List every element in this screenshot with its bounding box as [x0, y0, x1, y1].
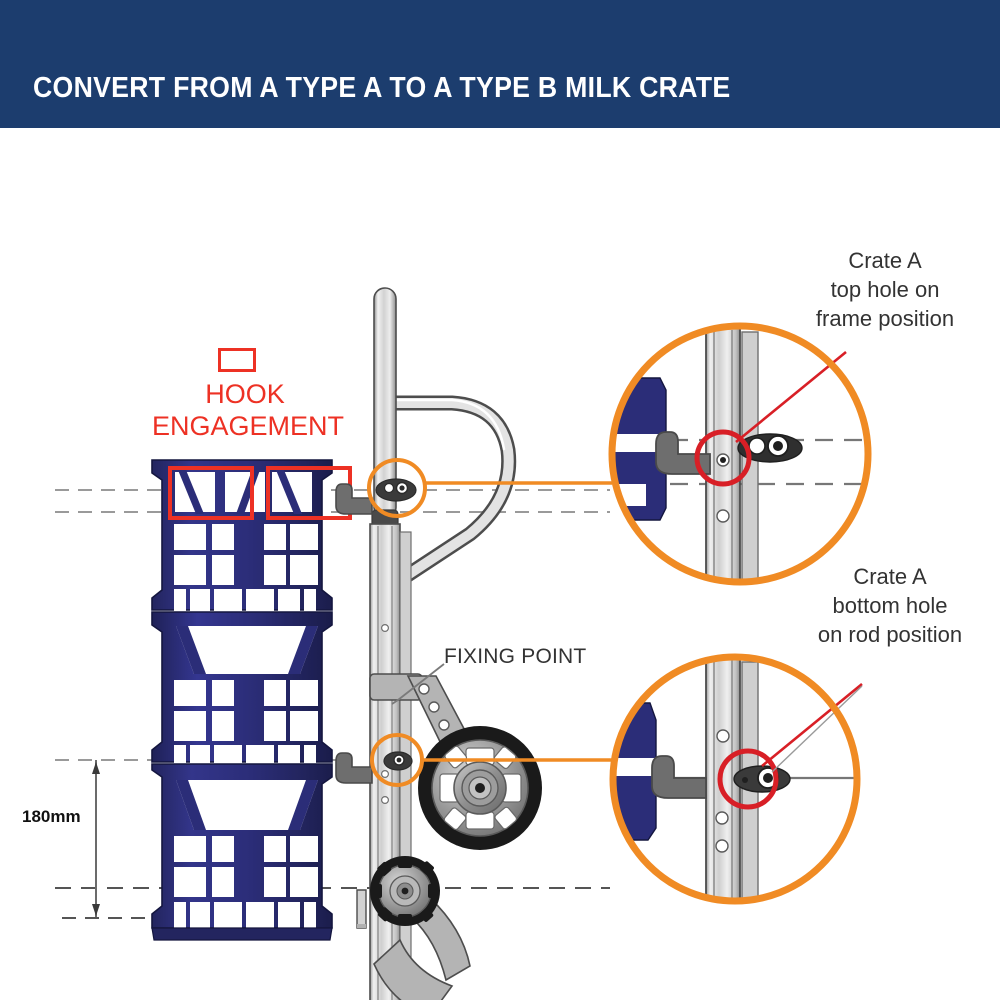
page-root: CONVERT FROM A TYPE A TO A TYPE B MILK C… [0, 0, 1000, 1000]
crate-top [152, 460, 332, 615]
detail-view-bottom [610, 657, 876, 918]
hand-truck [336, 288, 542, 1000]
callout-bottom-label: Crate A bottom hole on rod position [790, 562, 990, 649]
callout-bottom-line-1: Crate A [853, 564, 926, 589]
callout-top-label: Crate A top hole on frame position [780, 246, 990, 333]
callout-top-line-2: top hole on [831, 277, 940, 302]
main-wheel [418, 726, 542, 850]
fixing-point-label: FIXING POINT [444, 645, 586, 669]
detail-view-top [612, 326, 868, 588]
dimension-label: 180mm [22, 807, 81, 827]
crate-stack [152, 460, 332, 940]
page-title: CONVERT FROM A TYPE A TO A TYPE B MILK C… [33, 72, 730, 105]
header-banner: CONVERT FROM A TYPE A TO A TYPE B MILK C… [0, 0, 1000, 128]
stair-roller-wheel [370, 856, 440, 926]
dimension-180mm [62, 760, 160, 918]
hook-engagement-line-2: ENGAGEMENT [152, 411, 344, 441]
hook-engagement-swatch [218, 348, 256, 372]
crate-bottom [152, 764, 332, 940]
callout-top-line-1: Crate A [848, 248, 921, 273]
callout-top-line-3: frame position [816, 306, 954, 331]
callout-bottom-line-3: on rod position [818, 622, 962, 647]
callout-bottom-line-2: bottom hole [833, 593, 948, 618]
crate-middle [152, 612, 332, 769]
hook-engagement-label: HOOK ENGAGEMENT [152, 378, 338, 442]
base-plate [357, 890, 366, 928]
hook-engagement-line-1: HOOK [205, 379, 285, 409]
